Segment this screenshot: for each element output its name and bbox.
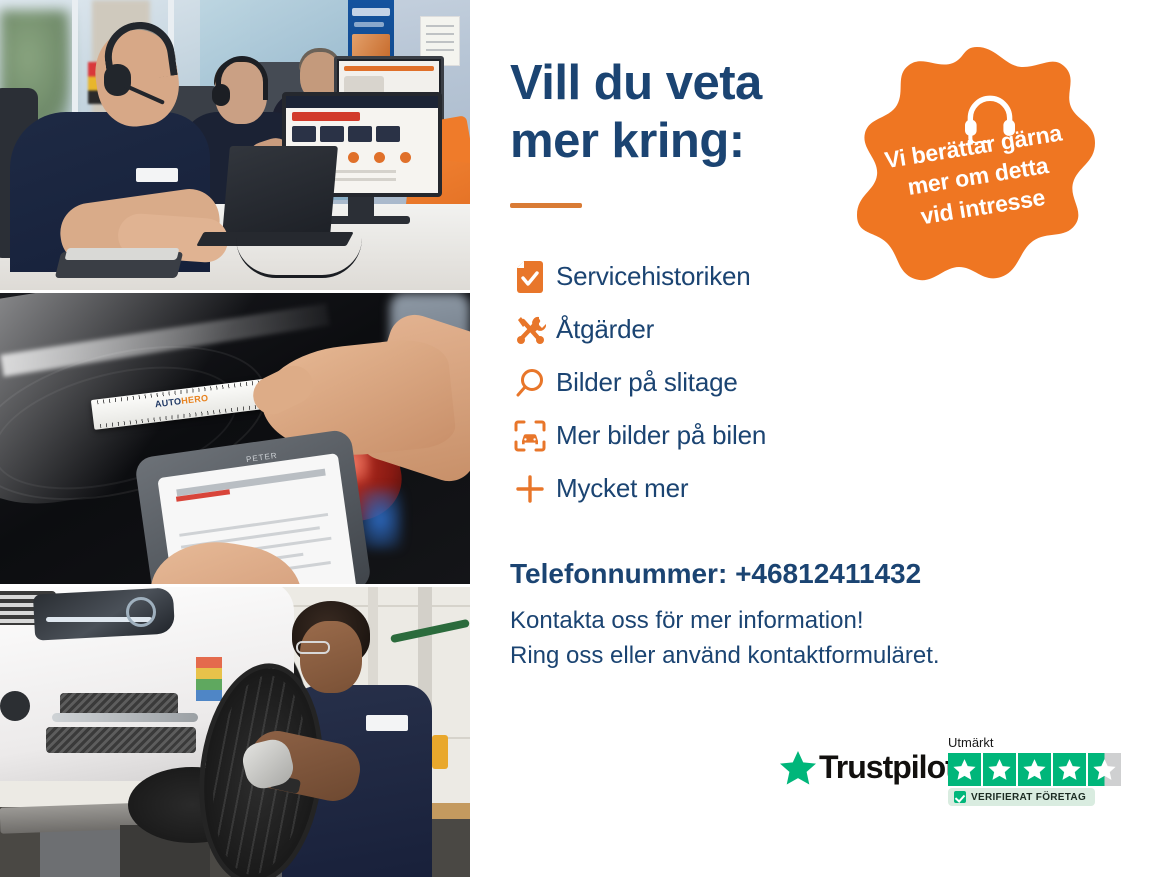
content-panel: Vill du veta mer kring: Vi berättar gärn… — [470, 0, 1170, 877]
feature-label: Mycket mer — [556, 473, 688, 504]
feature-item-bilder-pa-slitage: Bilder på slitage — [504, 356, 954, 409]
trustpilot-logo: Trustpilot — [780, 749, 955, 786]
phone-line: Telefonnummer: +46812411432 — [510, 558, 921, 590]
rating-label: Utmärkt — [948, 735, 1121, 750]
trustpilot-brand: Trustpilot — [819, 749, 955, 786]
plus-icon — [504, 474, 556, 504]
trustpilot-star-icon — [780, 750, 816, 786]
contact-line-2: Ring oss eller använd kontaktformuläret. — [510, 642, 940, 669]
feature-item-servicehistoriken: Servicehistoriken — [504, 250, 954, 303]
phone-label: Telefonnummer: — [510, 558, 727, 589]
phone-number[interactable]: +46812411432 — [735, 558, 921, 589]
star-2 — [983, 753, 1016, 786]
feature-label: Bilder på slitage — [556, 367, 738, 398]
star-1 — [948, 753, 981, 786]
contact-text: Kontakta oss för mer information! Ring o… — [510, 604, 940, 674]
star-4 — [1053, 753, 1086, 786]
headline-line-1: Vill du veta — [510, 56, 762, 110]
trustpilot-widget[interactable]: Trustpilot Utmärkt — [780, 735, 1140, 825]
feature-item-mer-bilder-pa-bilen: Mer bilder på bilen — [504, 409, 954, 462]
verified-check-icon — [954, 791, 966, 803]
crossed-tools-icon — [504, 314, 556, 346]
workshop-tire-photo — [0, 587, 470, 877]
promo-banner: AUTOHERO PETER — [0, 0, 1170, 877]
magnifying-glass-icon — [504, 368, 556, 398]
verified-business-badge: VERIFIERAT FÖRETAG — [948, 788, 1095, 806]
feature-label: Åtgärder — [556, 314, 654, 345]
headline-line-2: mer kring: — [510, 114, 745, 168]
trustpilot-rating: Utmärkt — [948, 735, 1121, 786]
star-rating — [948, 753, 1121, 786]
call-center-agents-photo — [0, 0, 470, 290]
photo-column: AUTOHERO PETER — [0, 0, 470, 877]
feature-label: Servicehistoriken — [556, 261, 751, 292]
feature-item-mycket-mer: Mycket mer — [504, 462, 954, 515]
star-3 — [1018, 753, 1051, 786]
contact-line-1: Kontakta oss för mer information! — [510, 607, 863, 634]
car-inspection-photo: AUTOHERO PETER — [0, 293, 470, 583]
car-scan-frame-icon — [504, 420, 556, 452]
checklist-document-icon — [504, 261, 556, 293]
star-5-half — [1088, 753, 1121, 786]
feature-label: Mer bilder på bilen — [556, 420, 766, 451]
feature-list: Servicehistoriken Åtgärder — [504, 250, 954, 515]
title-divider — [510, 203, 582, 208]
verified-label: VERIFIERAT FÖRETAG — [971, 792, 1086, 803]
feature-item-atgarder: Åtgärder — [504, 303, 954, 356]
